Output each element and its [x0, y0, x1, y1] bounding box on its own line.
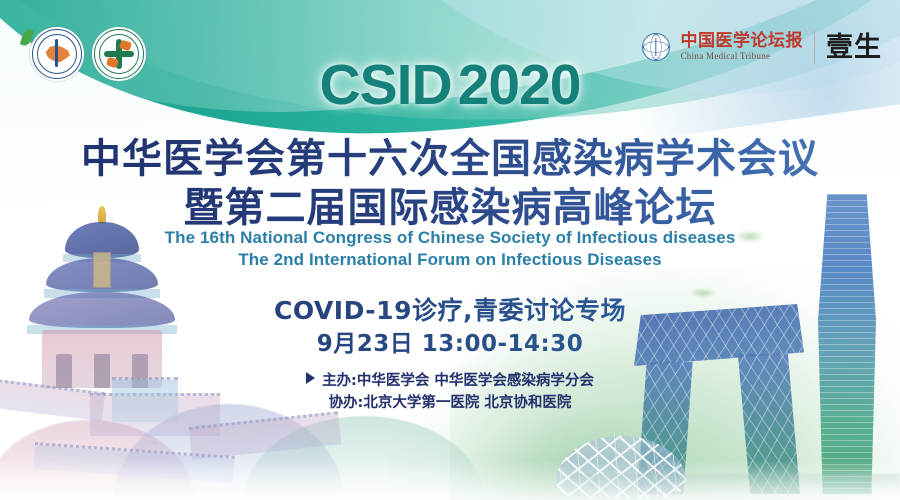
- session-topic: COVID-19诊疗,青委讨论专场: [0, 291, 900, 327]
- triangle-bullet-icon: [306, 372, 315, 384]
- acronym-year: 2020: [458, 53, 581, 117]
- session-datetime: 9月23日 13:00-14:30: [0, 324, 900, 358]
- host-text: 主办:中华医学会 中华医学会感染病学分会: [322, 373, 594, 389]
- acronym-text: CSID: [320, 53, 452, 117]
- organizer-block: 主办:中华医学会 中华医学会感染病学分会 协办:北京大学第一医院 北京协和医院: [0, 370, 900, 414]
- host-line: 主办:中华医学会 中华医学会感染病学分会: [0, 370, 900, 392]
- co-host-line: 协办:北京大学第一医院 北京协和医院: [0, 392, 900, 414]
- conference-banner: 中国医学论坛报 China Medical Tribune 壹生 CSID202…: [0, 0, 900, 500]
- event-acronym-logo: CSID2020: [0, 52, 900, 118]
- page-title-cn-line2: 暨第二届国际感染病高峰论坛: [0, 175, 900, 233]
- page-title-en-line1: The 16th National Congress of Chinese So…: [0, 228, 900, 248]
- page-title-en-line2: The 2nd International Forum on Infectiou…: [0, 250, 900, 270]
- co-host-text: 协办:北京大学第一医院 北京协和医院: [329, 395, 572, 411]
- banner-content: CSID2020 中华医学会第十六次全国感染病学术会议 暨第二届国际感染病高峰论…: [0, 0, 900, 500]
